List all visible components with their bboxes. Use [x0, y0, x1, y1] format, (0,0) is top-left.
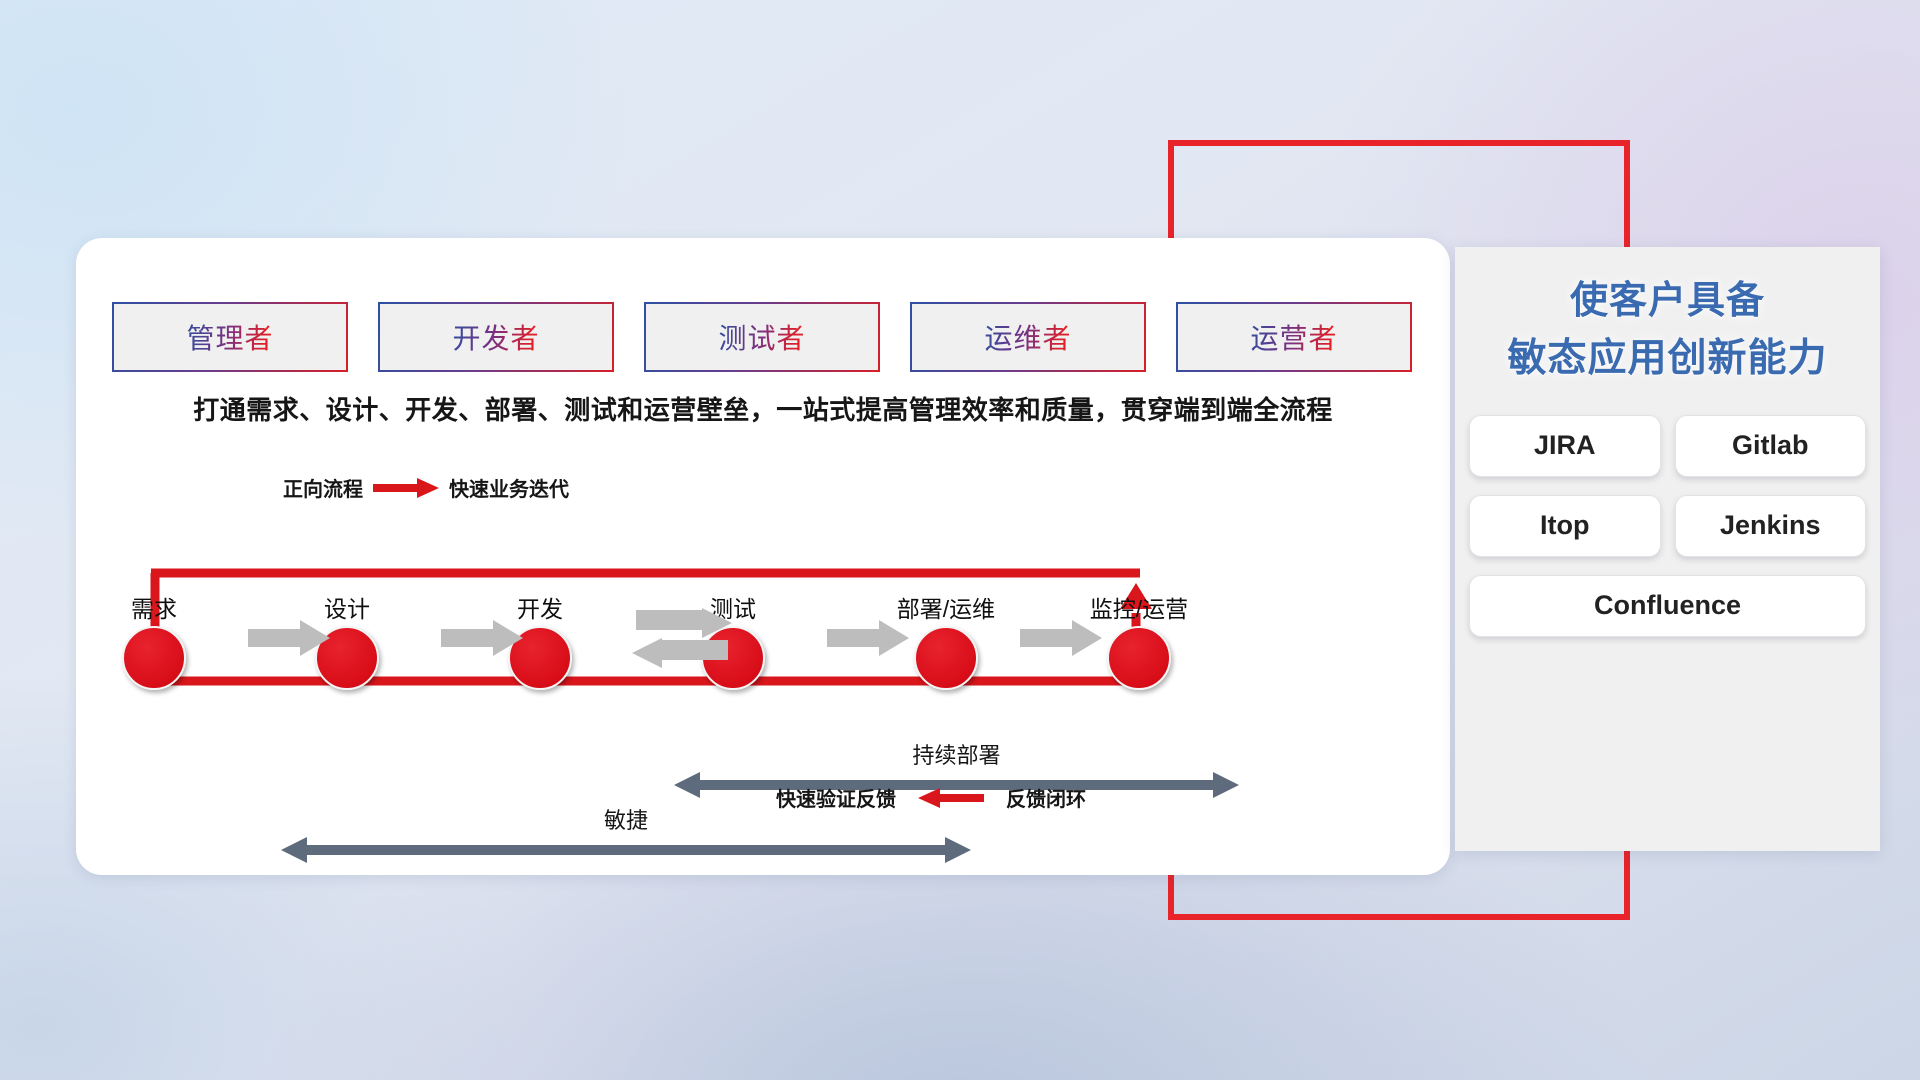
side-title-line2: 敏态应用创新能力	[1455, 330, 1880, 389]
stage-dot	[122, 626, 186, 690]
value-proposition-panel: 使客户具备 敏态应用创新能力 JIRA Gitlab Itop Jenkins …	[1455, 247, 1880, 851]
side-title-line1: 使客户具备	[1455, 273, 1880, 330]
tool-label: Gitlab	[1732, 430, 1809, 461]
stage-label: 监控/运营	[1059, 590, 1219, 624]
tool-card-grid: JIRA Gitlab Itop Jenkins Confluence	[1469, 415, 1866, 637]
tool-card-itop[interactable]: Itop	[1469, 495, 1661, 557]
tool-card-jenkins[interactable]: Jenkins	[1675, 495, 1867, 557]
tool-card-jira[interactable]: JIRA	[1469, 415, 1661, 477]
tool-label: JIRA	[1534, 430, 1596, 461]
slide-canvas: 管理者 开发者 测试者 运维者 运营者 打通需求、设计、开发、部署、测试和运营壁…	[0, 0, 1920, 1080]
stage-label: 部署/运维	[866, 590, 1026, 624]
block-arrow-right-icon	[827, 620, 909, 656]
stage-dot	[914, 626, 978, 690]
block-arrow-right-icon	[248, 620, 330, 656]
tool-label: Itop	[1540, 510, 1589, 541]
cycle-arrow-icon	[632, 608, 732, 670]
stage-dot	[1107, 626, 1171, 690]
block-arrow-right-icon	[1020, 620, 1102, 656]
tool-label: Confluence	[1594, 590, 1741, 621]
tool-card-confluence[interactable]: Confluence	[1469, 575, 1866, 637]
pipeline-stage-requirements[interactable]: 需求	[74, 590, 234, 690]
tool-card-gitlab[interactable]: Gitlab	[1675, 415, 1867, 477]
block-arrow-right-icon	[441, 620, 523, 656]
tool-label: Jenkins	[1720, 510, 1821, 541]
stage-label: 开发	[460, 590, 620, 624]
pipeline-row: 需求 设计 开发 测试 部署/运维 监控/运营	[76, 238, 1450, 875]
stage-label: 需求	[74, 590, 234, 624]
stage-label: 设计	[267, 590, 427, 624]
side-panel-title: 使客户具备 敏态应用创新能力	[1455, 273, 1880, 389]
devops-flow-card: 管理者 开发者 测试者 运维者 运营者 打通需求、设计、开发、部署、测试和运营壁…	[76, 238, 1450, 875]
